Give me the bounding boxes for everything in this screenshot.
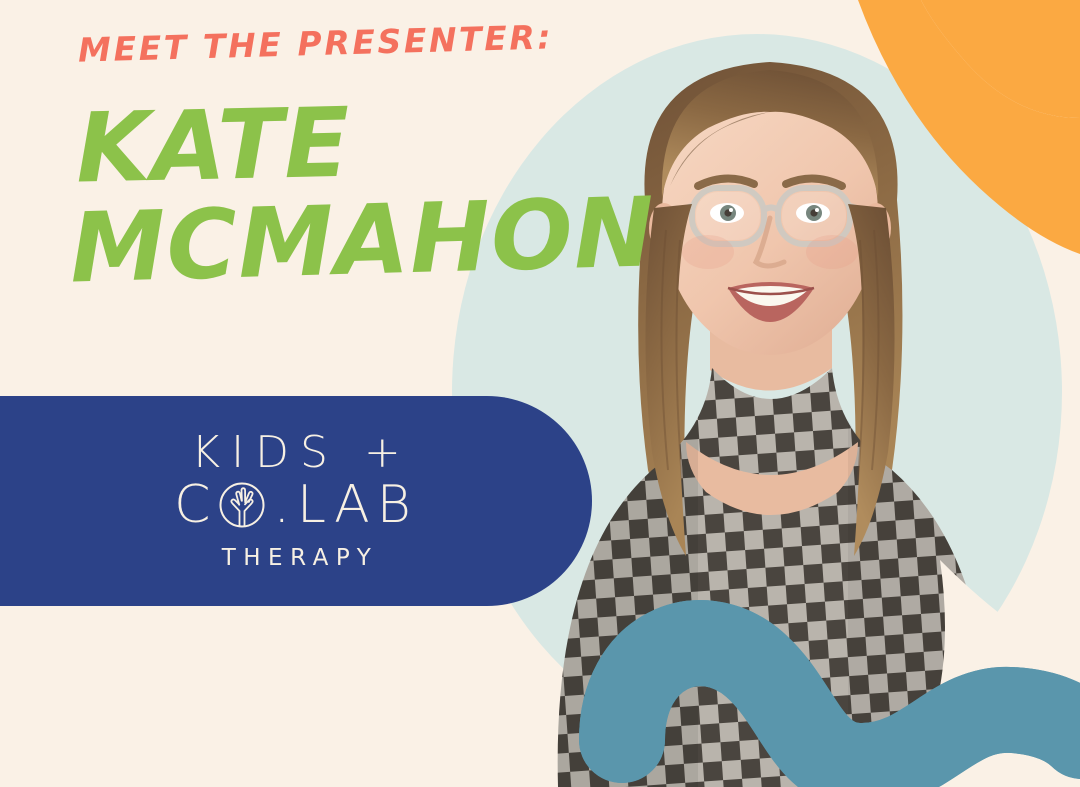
brand-logo-content: KIDS + C .LAB THER (0, 396, 592, 606)
page-title: KATE MCMAHON (70, 96, 610, 288)
brand-logo-pill: KIDS + C .LAB THER (0, 396, 592, 606)
logo-letter-c: C (174, 479, 217, 531)
logo-line-colab: C .LAB (174, 479, 418, 531)
poster-canvas: MEET THE PRESENTER: KATE MCMAHON KIDS + … (0, 0, 1080, 787)
logo-letters-lab: .LAB (273, 479, 417, 531)
logo-line-kids-plus: KIDS + (180, 431, 412, 475)
logo-line-therapy: THERAPY (214, 545, 379, 571)
two-hands-in-circle-icon (218, 481, 266, 529)
presenter-last-name: MCMAHON (69, 187, 611, 296)
